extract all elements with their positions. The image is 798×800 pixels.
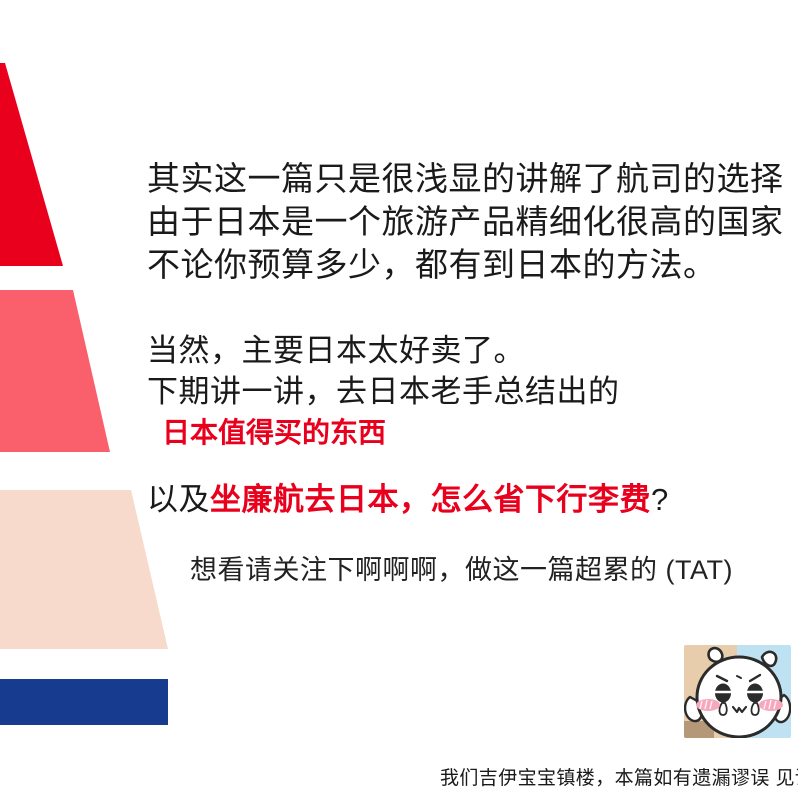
text-content-layer: 其实这一篇只是很浅显的讲解了航司的选择 由于日本是一个旅游产品精细化很高的国家 …: [0, 0, 798, 800]
highlight-budget-airline: 坐廉航去日本，怎么省下行李费: [210, 482, 651, 517]
slide-canvas: 其实这一篇只是很浅显的讲解了航司的选择 由于日本是一个旅游产品精细化很高的国家 …: [0, 0, 798, 800]
third-line: 以及坐廉航去日本，怎么省下行李费?: [147, 480, 669, 520]
bottom-caption: 我们吉伊宝宝镇楼，本篇如有遗漏谬误 见谅: [440, 763, 798, 790]
intro-line-1: 其实这一篇只是很浅显的讲解了航司的选择: [147, 157, 784, 200]
intro-line-3: 不论你预算多少，都有到日本的方法。: [147, 243, 784, 286]
second-paragraph: 当然，主要日本太好卖了。 下期讲一讲，去日本老手总结出的 日本值得买的东西: [147, 330, 620, 453]
second-line-1: 当然，主要日本太好卖了。: [147, 330, 620, 371]
mascot-head: [697, 657, 781, 737]
third-line-block: 以及坐廉航去日本，怎么省下行李费?: [147, 480, 669, 520]
intro-line-2: 由于日本是一个旅游产品精细化很高的国家: [147, 200, 784, 243]
mascot-sticker-image: [684, 645, 791, 738]
mascot-blush-left: [696, 699, 720, 711]
mascot-tear-left: [719, 703, 726, 715]
highlight-worth-buying: 日本值得买的东西: [147, 412, 620, 453]
follow-request-line: 想看请关注下啊啊啊，做这一篇超累的 (TAT): [190, 552, 733, 588]
third-line-prefix: 以及: [147, 482, 210, 517]
intro-paragraph: 其实这一篇只是很浅显的讲解了航司的选择 由于日本是一个旅游产品精细化很高的国家 …: [147, 157, 784, 286]
third-line-suffix: ?: [651, 482, 669, 517]
mascot-tear-right: [751, 703, 758, 715]
second-line-2: 下期讲一讲，去日本老手总结出的: [147, 371, 620, 412]
